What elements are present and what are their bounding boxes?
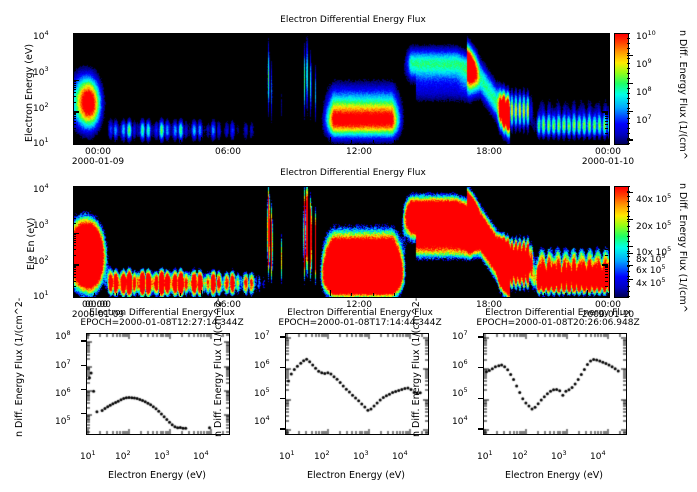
panel2-x-minor-tick bbox=[223, 293, 224, 296]
panel1-y-minor-tick bbox=[605, 61, 608, 62]
panel2-y-minor-tick bbox=[73, 277, 76, 278]
panel1-date-right: 2000-01-10 bbox=[578, 157, 638, 167]
spectrum3-y-major-tick bbox=[478, 428, 483, 429]
panel2-x-minor-tick bbox=[373, 186, 374, 189]
panel1-x-minor-tick bbox=[223, 33, 224, 36]
panel1-y-minor-tick bbox=[605, 121, 608, 122]
panel1-xtick-0: 00:00 bbox=[74, 147, 122, 157]
panel2-y-minor-tick bbox=[605, 271, 608, 272]
spectrum3-xlabel: Electron Energy (eV) bbox=[479, 470, 629, 481]
panel2-x-major-tick bbox=[458, 290, 459, 296]
panel1-y-minor-tick bbox=[73, 114, 76, 115]
panel1-y-minor-tick bbox=[73, 133, 76, 134]
panel2-x-major-tick bbox=[458, 186, 459, 192]
cb2-minor-tick bbox=[627, 201, 630, 202]
cb1-minor-tick bbox=[627, 123, 630, 124]
cb1-minor-tick bbox=[627, 108, 630, 109]
spectrum1-ylabel: n Diff. Energy Flux (1/(cm^2- bbox=[14, 298, 25, 437]
panel1-y-minor-tick bbox=[73, 121, 76, 122]
panel2-y-minor-tick bbox=[605, 286, 608, 287]
panel1-cbtick-3: 107 bbox=[636, 113, 652, 126]
spectrum3-y-major-tick bbox=[478, 398, 483, 399]
panel2-x-major-tick bbox=[73, 290, 74, 296]
panel2-x-minor-tick bbox=[565, 293, 566, 296]
panel2-x-major-tick bbox=[201, 186, 202, 192]
cb1-minor-tick bbox=[627, 53, 630, 54]
cb1-minor-tick bbox=[627, 143, 630, 144]
panel1-y-minor-tick bbox=[605, 39, 608, 40]
panel1-x-major-tick bbox=[458, 33, 459, 39]
panel1-x-major-tick bbox=[587, 33, 588, 39]
cb2-minor-tick bbox=[627, 236, 630, 237]
panel1-x-major-tick bbox=[587, 137, 588, 143]
cb1-minor-tick bbox=[627, 133, 630, 134]
panel2-y-minor-tick bbox=[605, 269, 608, 270]
cb1-minor-tick bbox=[627, 38, 630, 39]
panel1-y-minor-tick bbox=[605, 124, 608, 125]
panel2-y-minor-tick bbox=[605, 240, 608, 241]
panel1-y-minor-tick bbox=[605, 102, 608, 103]
spectrum1-plot bbox=[86, 333, 230, 435]
panel1-x-minor-tick bbox=[287, 140, 288, 143]
panel2-x-minor-tick bbox=[308, 293, 309, 296]
panel1-y-minor-tick bbox=[73, 92, 76, 93]
spectrum2-title: Electron Differential Energy Flux bbox=[255, 308, 465, 318]
spectrum3-ytick-2: 105 bbox=[452, 386, 468, 399]
panel1-x-minor-tick bbox=[137, 140, 138, 143]
panel1-x-minor-tick bbox=[351, 33, 352, 36]
spectrum1-y-major-tick bbox=[81, 389, 86, 390]
cb2-minor-tick bbox=[627, 226, 630, 227]
panel1-x-major-tick bbox=[458, 137, 459, 143]
panel2-x-minor-tick bbox=[608, 293, 609, 296]
panel2-x-minor-tick bbox=[522, 293, 523, 296]
panel2-y-minor-tick bbox=[605, 249, 608, 250]
panel2-y-minor-tick bbox=[605, 208, 608, 209]
spectrum1-ytick-0: 108 bbox=[55, 329, 71, 342]
panel2-x-major-tick bbox=[73, 186, 74, 192]
panel1-x-minor-tick bbox=[415, 33, 416, 36]
panel1-y-minor-tick bbox=[73, 81, 76, 82]
panel2-x-minor-tick bbox=[94, 293, 95, 296]
cb2-minor-tick bbox=[627, 241, 630, 242]
panel2-x-minor-tick bbox=[223, 186, 224, 189]
panel2-x-minor-tick bbox=[480, 293, 481, 296]
cb2-minor-tick bbox=[627, 271, 630, 272]
panel1-y-minor-tick bbox=[605, 65, 608, 66]
panel2-x-minor-tick bbox=[287, 293, 288, 296]
panel2-x-minor-tick bbox=[266, 186, 267, 189]
panel2-y-minor-tick bbox=[73, 218, 76, 219]
panel1-y-minor-tick bbox=[605, 87, 608, 88]
cb1-minor-tick bbox=[627, 93, 630, 94]
figure-root: Electron Differential Energy Flux Electr… bbox=[0, 0, 697, 492]
panel1-y-minor-tick bbox=[73, 124, 76, 125]
panel2-x-minor-tick bbox=[501, 186, 502, 189]
spectrum1-ytick-2: 106 bbox=[55, 386, 71, 399]
cb2-major-tick bbox=[627, 192, 633, 193]
panel2-x-minor-tick bbox=[159, 293, 160, 296]
panel1-y-minor-tick bbox=[605, 85, 608, 86]
spectrum2-ytick-2: 105 bbox=[254, 386, 270, 399]
panel2-y-minor-tick bbox=[605, 204, 608, 205]
cb2-minor-tick bbox=[627, 276, 630, 277]
panel1-ylabel: Electron Energy (eV) bbox=[24, 44, 35, 142]
cb1-minor-tick bbox=[627, 33, 630, 34]
panel1-x-minor-tick bbox=[394, 140, 395, 143]
panel1-colorbar-label: n Diff. Energy Flux (1/(cm^ bbox=[677, 30, 688, 160]
panel2-y-minor-tick bbox=[605, 238, 608, 239]
panel2-y-minor-tick bbox=[605, 203, 608, 204]
panel1-x-minor-tick bbox=[501, 140, 502, 143]
panel1-x-minor-tick bbox=[522, 140, 523, 143]
panel2-y-minor-tick bbox=[73, 211, 76, 212]
panel1-y-major-tick bbox=[73, 143, 79, 144]
panel1-y-minor-tick bbox=[73, 53, 76, 54]
panel1-y-minor-tick bbox=[605, 114, 608, 115]
spectrum3-title: Electron Differential Energy Flux bbox=[453, 308, 663, 318]
panel1-x-major-tick bbox=[201, 33, 202, 39]
panel1-x-minor-tick bbox=[287, 33, 288, 36]
panel1-x-minor-tick bbox=[373, 140, 374, 143]
spectrum2-subtitle: EPOCH=2000-01-08T17:14:44.344Z bbox=[255, 318, 465, 328]
panel1-xtick-3: 18:00 bbox=[465, 147, 513, 157]
panel1-title: Electron Differential Energy Flux bbox=[233, 15, 473, 25]
spectrum1-xtick-1: 102 bbox=[115, 449, 131, 462]
panel2-y-major-tick bbox=[73, 296, 79, 297]
panel1-x-minor-tick bbox=[437, 140, 438, 143]
spectrum3-xtick-2: 103 bbox=[551, 449, 567, 462]
cb1-minor-tick bbox=[627, 68, 630, 69]
panel2-y-minor-tick bbox=[605, 218, 608, 219]
panel2-ytick-1: 101 bbox=[33, 289, 49, 302]
panel2-y-minor-tick bbox=[73, 255, 76, 256]
panel1-x-minor-tick bbox=[159, 33, 160, 36]
spectrum3-y-major-tick bbox=[478, 336, 483, 337]
panel1-x-minor-tick bbox=[394, 33, 395, 36]
panel2-ytick-4: 104 bbox=[33, 182, 49, 195]
panel1-y-minor-tick bbox=[73, 55, 76, 56]
spectrum3-ytick-0: 107 bbox=[452, 329, 468, 342]
panel1-x-minor-tick bbox=[608, 33, 609, 36]
panel1-y-minor-tick bbox=[605, 89, 608, 90]
panel1-y-minor-tick bbox=[73, 102, 76, 103]
panel2-cbtick-1: 20x 105 bbox=[636, 219, 671, 232]
panel1-y-minor-tick bbox=[73, 118, 76, 119]
cb2-minor-tick bbox=[627, 256, 630, 257]
panel2-x-minor-tick bbox=[415, 186, 416, 189]
panel2-y-minor-tick bbox=[605, 214, 608, 215]
panel2-y-minor-tick bbox=[73, 214, 76, 215]
panel2-x-minor-tick bbox=[159, 186, 160, 189]
spectrum3-ytick-1: 106 bbox=[452, 358, 468, 371]
cb2-minor-tick bbox=[627, 261, 630, 262]
panel1-y-minor-tick bbox=[605, 55, 608, 56]
panel1-x-minor-tick bbox=[180, 33, 181, 36]
panel2-y-minor-tick bbox=[605, 236, 608, 237]
panel2-cbtick-0: 40x 105 bbox=[636, 192, 671, 205]
cb1-minor-tick bbox=[627, 88, 630, 89]
panel2-x-minor-tick bbox=[373, 293, 374, 296]
cb1-minor-tick bbox=[627, 48, 630, 49]
panel2-y-minor-tick bbox=[605, 234, 608, 235]
panel1-y-minor-tick bbox=[73, 116, 76, 117]
panel2-x-major-tick bbox=[330, 290, 331, 296]
panel1-ytick-4: 104 bbox=[33, 29, 49, 42]
panel1-y-minor-tick bbox=[605, 116, 608, 117]
spectrum2-ytick-3: 104 bbox=[254, 414, 270, 427]
panel1-y-minor-tick bbox=[605, 92, 608, 93]
panel1-cbtick-1: 109 bbox=[636, 57, 652, 70]
cb2-minor-tick bbox=[627, 281, 630, 282]
panel2-x-minor-tick bbox=[116, 186, 117, 189]
panel1-x-minor-tick bbox=[544, 33, 545, 36]
panel2-y-minor-tick bbox=[605, 206, 608, 207]
cb2-minor-tick bbox=[627, 231, 630, 232]
panel1-x-minor-tick bbox=[137, 33, 138, 36]
spectrum3-xtick-0: 101 bbox=[477, 449, 493, 462]
panel2-x-major-tick bbox=[330, 186, 331, 192]
panel1-xtick-4: 00:00 bbox=[584, 147, 632, 157]
spectrum1-y-major-tick bbox=[81, 413, 86, 414]
panel1-x-minor-tick bbox=[266, 33, 267, 36]
panel1-x-minor-tick bbox=[116, 140, 117, 143]
panel2-x-major-tick bbox=[587, 290, 588, 296]
panel1-x-minor-tick bbox=[94, 33, 95, 36]
panel2-y-minor-tick bbox=[73, 271, 76, 272]
panel1-y-minor-tick bbox=[73, 65, 76, 66]
panel2-y-minor-tick bbox=[605, 211, 608, 212]
cb2-minor-tick bbox=[627, 186, 630, 187]
panel2-y-minor-tick bbox=[605, 223, 608, 224]
cb2-minor-tick bbox=[627, 296, 630, 297]
panel2-y-minor-tick bbox=[605, 192, 608, 193]
spectrum2-xtick-3: 104 bbox=[392, 449, 408, 462]
panel2-x-minor-tick bbox=[94, 186, 95, 189]
panel1-x-minor-tick bbox=[565, 33, 566, 36]
panel2-y-minor-tick bbox=[73, 234, 76, 235]
panel1-y-minor-tick bbox=[73, 70, 76, 71]
spectrum2-xtick-1: 102 bbox=[314, 449, 330, 462]
panel1-xtick-1: 06:00 bbox=[204, 147, 252, 157]
panel2-y-minor-tick bbox=[605, 267, 608, 268]
panel2-x-minor-tick bbox=[415, 293, 416, 296]
panel1-x-minor-tick bbox=[480, 33, 481, 36]
panel2-x-minor-tick bbox=[266, 293, 267, 296]
cb2-minor-tick bbox=[627, 211, 630, 212]
panel2-spectrogram bbox=[73, 186, 610, 298]
panel2-y-minor-tick bbox=[73, 208, 76, 209]
panel2-y-minor-tick bbox=[605, 255, 608, 256]
panel1-x-minor-tick bbox=[544, 140, 545, 143]
panel2-y-minor-tick bbox=[73, 269, 76, 270]
panel1-x-minor-tick bbox=[480, 140, 481, 143]
panel2-y-minor-tick bbox=[73, 236, 76, 237]
panel1-x-minor-tick bbox=[522, 33, 523, 36]
panel2-y-minor-tick bbox=[605, 277, 608, 278]
panel1-y-minor-tick bbox=[73, 113, 76, 114]
panel1-x-minor-tick bbox=[308, 140, 309, 143]
panel2-cbtick-4: 6x 105 bbox=[636, 263, 666, 276]
panel2-y-minor-tick bbox=[605, 242, 608, 243]
panel1-y-minor-tick bbox=[605, 118, 608, 119]
panel2-y-minor-tick bbox=[73, 238, 76, 239]
panel1-x-minor-tick bbox=[116, 33, 117, 36]
spectrum2-ytick-1: 106 bbox=[254, 358, 270, 371]
panel2-y-minor-tick bbox=[605, 245, 608, 246]
panel1-y-minor-tick bbox=[73, 58, 76, 59]
cb2-minor-tick bbox=[627, 206, 630, 207]
spectrum2-y-major-tick bbox=[280, 398, 285, 399]
cb1-minor-tick bbox=[627, 43, 630, 44]
panel1-x-major-tick bbox=[73, 137, 74, 143]
panel1-xtick-2: 12:00 bbox=[335, 147, 383, 157]
panel1-y-minor-tick bbox=[605, 70, 608, 71]
cb2-minor-tick bbox=[627, 221, 630, 222]
spectrum1-xtick-3: 104 bbox=[193, 449, 209, 462]
panel1-y-minor-tick bbox=[73, 51, 76, 52]
panel1-x-major-tick bbox=[330, 137, 331, 143]
panel1-ytick-1: 101 bbox=[33, 136, 49, 149]
panel1-y-minor-tick bbox=[73, 85, 76, 86]
panel2-ytick-3: 103 bbox=[33, 218, 49, 231]
panel2-x-minor-tick bbox=[565, 186, 566, 189]
panel1-y-minor-tick bbox=[73, 83, 76, 84]
panel2-cbtick-5: 4x 105 bbox=[636, 276, 666, 289]
panel2-y-minor-tick bbox=[73, 286, 76, 287]
panel2-x-minor-tick bbox=[351, 186, 352, 189]
panel2-y-minor-tick bbox=[73, 204, 76, 205]
panel1-x-minor-tick bbox=[244, 140, 245, 143]
cb2-minor-tick bbox=[627, 286, 630, 287]
spectrum3-ylabel: n Diff. Energy Flux (1/(cm^2- bbox=[411, 298, 422, 437]
panel1-y-minor-tick bbox=[605, 81, 608, 82]
panel1-x-minor-tick bbox=[266, 140, 267, 143]
panel1-y-minor-tick bbox=[605, 51, 608, 52]
panel2-x-minor-tick bbox=[244, 293, 245, 296]
spectrum2-xlabel: Electron Energy (eV) bbox=[281, 470, 431, 481]
cb1-minor-tick bbox=[627, 83, 630, 84]
panel1-x-minor-tick bbox=[501, 33, 502, 36]
panel1-x-minor-tick bbox=[244, 33, 245, 36]
cb1-minor-tick bbox=[627, 103, 630, 104]
panel2-y-minor-tick bbox=[605, 274, 608, 275]
spectrum1-ytick-3: 105 bbox=[55, 414, 71, 427]
cb2-minor-tick bbox=[627, 246, 630, 247]
cb1-minor-tick bbox=[627, 58, 630, 59]
panel1-x-minor-tick bbox=[94, 140, 95, 143]
panel1-ytick-2: 102 bbox=[33, 101, 49, 114]
panel1-x-minor-tick bbox=[415, 140, 416, 143]
panel1-y-minor-tick bbox=[73, 89, 76, 90]
panel2-x-minor-tick bbox=[437, 293, 438, 296]
panel2-y-minor-tick bbox=[73, 274, 76, 275]
spectrum1-y-major-tick bbox=[81, 365, 86, 366]
cb2-minor-tick bbox=[627, 251, 630, 252]
panel2-x-minor-tick bbox=[308, 186, 309, 189]
spectrum1-xtick-0: 101 bbox=[80, 449, 96, 462]
spectrum1-xlabel: Electron Energy (eV) bbox=[82, 470, 232, 481]
panel1-y-minor-tick bbox=[605, 83, 608, 84]
panel1-ytick-3: 103 bbox=[33, 65, 49, 78]
panel2-x-minor-tick bbox=[480, 186, 481, 189]
cb1-minor-tick bbox=[627, 63, 630, 64]
panel2-y-minor-tick bbox=[73, 266, 76, 267]
panel2-y-minor-tick bbox=[73, 249, 76, 250]
panel1-x-minor-tick bbox=[159, 140, 160, 143]
cb2-minor-tick bbox=[627, 291, 630, 292]
panel1-y-minor-tick bbox=[605, 133, 608, 134]
panel2-x-minor-tick bbox=[116, 293, 117, 296]
panel2-ytick-2: 102 bbox=[33, 254, 49, 267]
panel2-x-minor-tick bbox=[351, 293, 352, 296]
panel2-x-minor-tick bbox=[180, 293, 181, 296]
panel2-y-minor-tick bbox=[73, 206, 76, 207]
panel2-x-minor-tick bbox=[608, 186, 609, 189]
panel1-x-minor-tick bbox=[308, 33, 309, 36]
panel2-y-major-tick bbox=[602, 296, 608, 297]
panel2-x-minor-tick bbox=[522, 186, 523, 189]
cb1-minor-tick bbox=[627, 73, 630, 74]
spectrum1-y-major-tick bbox=[81, 340, 86, 341]
spectrum2-ytick-0: 107 bbox=[254, 329, 270, 342]
spectrum2-plot bbox=[285, 333, 429, 435]
panel1-x-major-tick bbox=[201, 137, 202, 143]
spectrum2-y-major-tick bbox=[280, 336, 285, 337]
panel1-y-minor-tick bbox=[605, 50, 608, 51]
cb1-minor-tick bbox=[627, 118, 630, 119]
panel2-x-major-tick bbox=[587, 186, 588, 192]
panel2-x-minor-tick bbox=[437, 186, 438, 189]
panel2-x-minor-tick bbox=[394, 186, 395, 189]
spectrum3-plot bbox=[483, 333, 627, 435]
spectrum2-xtick-0: 101 bbox=[279, 449, 295, 462]
spectrum2-y-major-tick bbox=[280, 428, 285, 429]
panel1-y-minor-tick bbox=[73, 50, 76, 51]
panel2-x-minor-tick bbox=[287, 186, 288, 189]
spectrum2-y-major-tick bbox=[280, 367, 285, 368]
cb1-minor-tick bbox=[627, 113, 630, 114]
panel2-y-minor-tick bbox=[605, 281, 608, 282]
panel1-y-minor-tick bbox=[605, 96, 608, 97]
panel1-spectrogram bbox=[73, 33, 610, 145]
spectrum2-xtick-2: 103 bbox=[353, 449, 369, 462]
panel2-y-minor-tick bbox=[73, 242, 76, 243]
panel2-x-minor-tick bbox=[544, 293, 545, 296]
panel1-y-minor-tick bbox=[605, 128, 608, 129]
spectrum3-ytick-3: 104 bbox=[452, 414, 468, 427]
cb2-minor-tick bbox=[627, 191, 630, 192]
cb2-minor-tick bbox=[627, 216, 630, 217]
panel2-y-minor-tick bbox=[73, 267, 76, 268]
panel1-y-minor-tick bbox=[605, 53, 608, 54]
panel2-x-minor-tick bbox=[394, 293, 395, 296]
panel2-x-minor-tick bbox=[180, 186, 181, 189]
cb1-minor-tick bbox=[627, 138, 630, 139]
panel2-overlap-label-0: 00:00 bbox=[82, 300, 108, 310]
panel2-x-major-tick bbox=[201, 290, 202, 296]
panel1-y-major-tick bbox=[602, 143, 608, 144]
panel1-cbtick-0: 1010 bbox=[636, 29, 656, 42]
spectrum3-xtick-3: 104 bbox=[590, 449, 606, 462]
spectrum3-xtick-1: 102 bbox=[512, 449, 528, 462]
panel2-y-minor-tick bbox=[73, 281, 76, 282]
panel1-x-minor-tick bbox=[565, 140, 566, 143]
panel1-y-minor-tick bbox=[605, 58, 608, 59]
spectrum1-xtick-2: 103 bbox=[154, 449, 170, 462]
panel2-x-minor-tick bbox=[244, 186, 245, 189]
panel2-y-minor-tick bbox=[605, 266, 608, 267]
